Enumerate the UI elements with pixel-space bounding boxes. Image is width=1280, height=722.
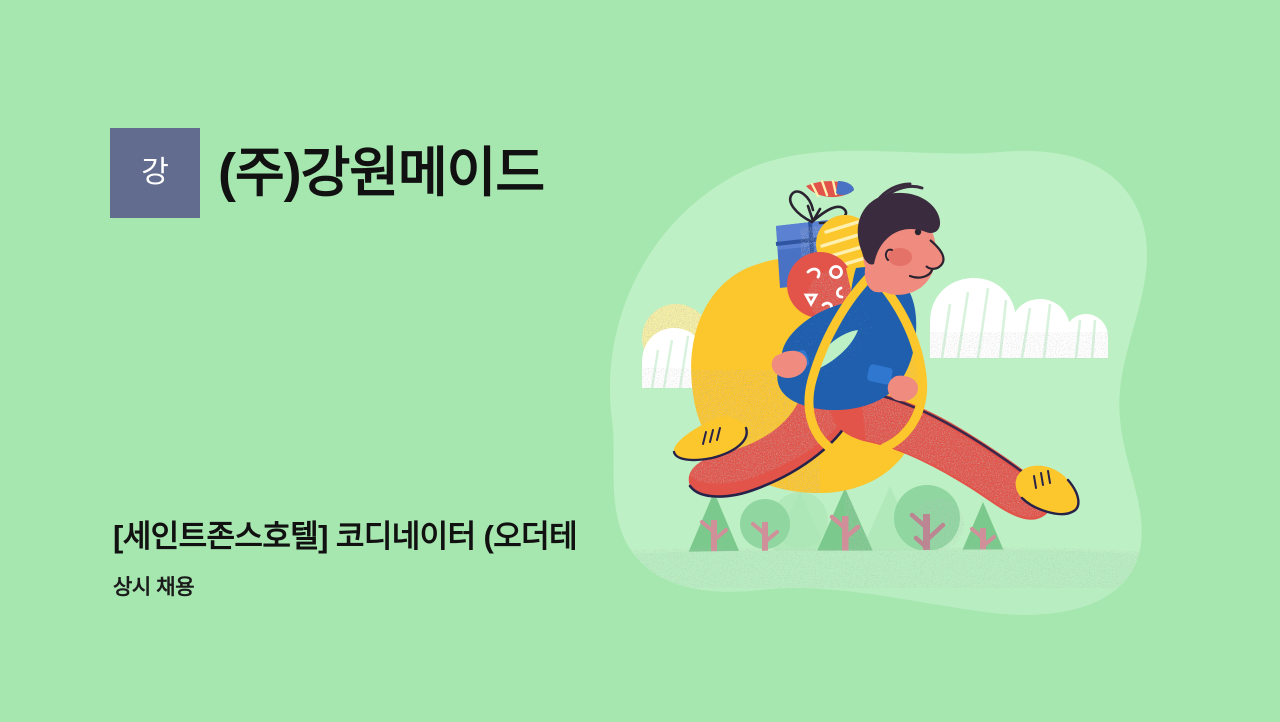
runner-front-shoe xyxy=(1016,466,1079,514)
company-header: 강 (주)강원메이드 xyxy=(110,128,544,218)
runner-back-leg xyxy=(689,376,854,497)
runner-front-leg xyxy=(831,388,1052,520)
job-posting-card: 강 (주)강원메이드 [세인트존스호텔] 코디네이터 (오더테 상시 채용 xyxy=(0,0,1280,722)
tree-round xyxy=(894,485,964,562)
gift-sack xyxy=(684,257,930,500)
tree-conical xyxy=(858,486,922,558)
tree-conical xyxy=(770,490,830,558)
ground-strip xyxy=(600,547,1170,614)
company-logo-badge: 강 xyxy=(110,128,200,218)
tree-conical xyxy=(959,502,1007,562)
background-blob xyxy=(610,151,1147,615)
runner-head xyxy=(858,184,944,295)
running-man-illustration xyxy=(0,0,1280,722)
scene xyxy=(600,181,1170,614)
striped-parcel xyxy=(846,265,902,324)
job-summary: [세인트존스호텔] 코디네이터 (오더테 상시 채용 xyxy=(113,518,577,600)
runner-hands xyxy=(772,351,918,402)
tree-round xyxy=(740,499,790,562)
patterned-ball xyxy=(787,252,860,322)
tree-conical xyxy=(814,488,876,562)
runner-torso xyxy=(777,267,916,410)
sun-icon xyxy=(642,304,710,372)
job-status-badge: 상시 채용 xyxy=(113,575,577,600)
cloud-left xyxy=(642,328,771,389)
background xyxy=(0,0,1280,722)
company-name: (주)강원메이드 xyxy=(218,146,544,200)
shoulder-strap xyxy=(809,274,923,452)
tree-conical xyxy=(686,492,742,562)
job-title[interactable]: [세인트존스호텔] 코디네이터 (오더테 xyxy=(113,518,577,557)
confetti xyxy=(806,181,854,197)
tree-round xyxy=(772,492,828,548)
bow-icon xyxy=(790,192,846,223)
cloud-right xyxy=(930,278,1108,359)
striped-ball xyxy=(816,215,874,273)
tree-row xyxy=(686,485,1007,562)
gift-box xyxy=(776,192,856,288)
runner-back-shoe xyxy=(674,417,747,460)
